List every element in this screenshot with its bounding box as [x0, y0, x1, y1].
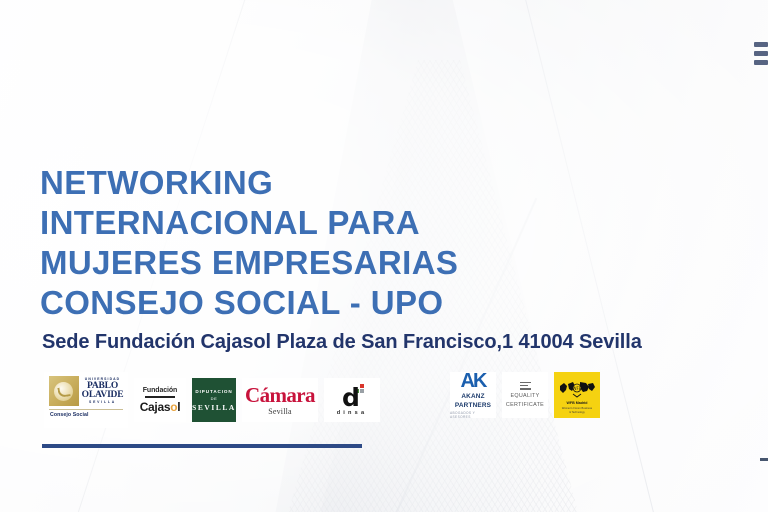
upo-emblem-swirl-icon	[54, 382, 73, 401]
logo-equality-certificate: EQUALITY CERTIFICATE	[502, 372, 548, 418]
cajasol-wordmark: Cajasol	[140, 400, 181, 414]
dinsa-letter-d: d	[342, 387, 360, 408]
event-poster: NETWORKING INTERNACIONAL PARA MUJERES EM…	[0, 0, 768, 512]
hamburger-bar-1	[754, 42, 768, 47]
equality-label-line-1: EQUALITY	[510, 393, 539, 399]
page-title: NETWORKING INTERNACIONAL PARA MUJERES EM…	[40, 163, 560, 323]
sponsor-logo-strip-left: UNIVERSIDAD PABLO OLAVIDE SEVILLA Consej…	[44, 372, 380, 428]
wfb-sub-line-1: Women's Forum Business	[562, 407, 592, 410]
wfb-title: WFB Madrid	[567, 401, 588, 405]
logo-fundacion-cajasol: Fundación Cajasol	[134, 378, 186, 422]
equality-bar-2	[520, 385, 528, 387]
logo-diputacion-sevilla: DIPUTACION DE SEVILLA	[192, 378, 236, 422]
equality-label-line-2: CERTIFICATE	[506, 402, 544, 408]
headline-line-2: INTERNACIONAL PARA	[40, 203, 560, 243]
venue-address: Sede Fundación Cajasol Plaza de San Fran…	[42, 331, 642, 354]
upo-caption: Consejo Social	[50, 412, 89, 418]
diputacion-arc-label: DIPUTACION	[195, 388, 232, 393]
dinsa-square-grey	[360, 389, 364, 393]
headline-line-3: MUJERES EMPRESARIAS	[40, 243, 560, 283]
logo-universidad-pablo-olavide: UNIVERSIDAD PABLO OLAVIDE SEVILLA Consej…	[44, 372, 128, 428]
hamburger-bar-3	[754, 60, 768, 65]
cajasol-word-a: Cajas	[140, 400, 171, 414]
upo-emblem-icon	[49, 376, 79, 406]
akanz-monogram-icon: AK	[461, 371, 486, 392]
upo-divider	[49, 409, 123, 410]
cajasol-divider	[145, 396, 175, 398]
right-edge-dash	[760, 458, 768, 461]
logo-camara-sevilla: Cámara Sevilla	[242, 378, 318, 422]
headline-line-4: CONSEJO SOCIAL - UPO	[40, 283, 560, 323]
akanz-name-line-2: PARTNERS	[455, 402, 491, 410]
cajasol-word-b: l	[177, 400, 180, 414]
hamburger-menu-icon[interactable]	[754, 42, 768, 65]
cajasol-top-label: Fundación	[143, 387, 178, 394]
upo-bottom-label: SEVILLA	[89, 401, 116, 404]
equality-bar-3	[520, 388, 531, 390]
diputacion-de-label: DE	[211, 396, 218, 401]
wfb-sub-line-2: & Technology	[569, 411, 585, 414]
sponsor-logo-strip-right: AK AKANZ PARTNERS ABOGADOS Y ASESORES EQ…	[450, 372, 600, 418]
equality-bar-1	[520, 382, 531, 384]
dinsa-mark-icon: d	[339, 384, 365, 408]
dinsa-square-red	[360, 384, 364, 388]
bottom-divider	[42, 444, 362, 448]
upo-logo-row: UNIVERSIDAD PABLO OLAVIDE SEVILLA	[49, 376, 124, 406]
akanz-tagline: ABOGADOS Y ASESORES	[450, 411, 496, 419]
akanz-name-line-1: AKANZ	[461, 393, 484, 401]
equality-bars-icon	[520, 382, 531, 390]
world-map-icon: WFB	[558, 380, 596, 400]
hamburger-bar-2	[754, 51, 768, 56]
logo-dinsa: d dinsa	[324, 378, 380, 422]
camara-wordmark: Cámara	[245, 384, 315, 406]
svg-text:WFB: WFB	[573, 386, 582, 391]
camara-sub-label: Sevilla	[268, 407, 292, 416]
logo-akanz-partners: AK AKANZ PARTNERS ABOGADOS Y ASESORES	[450, 372, 496, 418]
headline-line-1: NETWORKING	[40, 163, 560, 203]
upo-wordmark: UNIVERSIDAD PABLO OLAVIDE SEVILLA	[82, 378, 124, 404]
diputacion-main-label: SEVILLA	[192, 403, 236, 412]
logo-wfb-madrid: WFB WFB Madrid Women's Forum Business & …	[554, 372, 600, 418]
